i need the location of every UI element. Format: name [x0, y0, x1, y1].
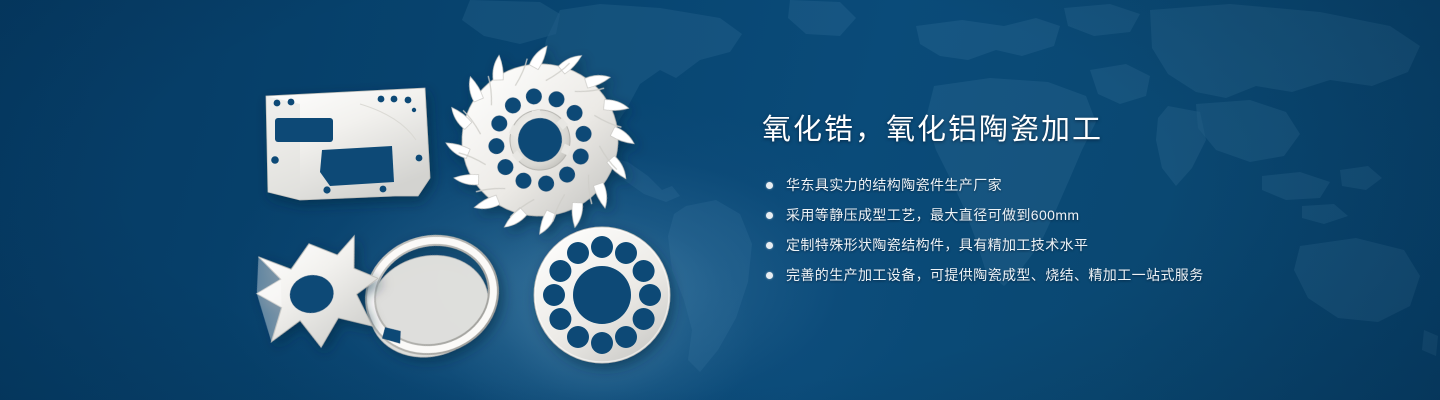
- feature-list: 华东具实力的结构陶瓷件生产厂家 采用等静压成型工艺，最大直径可做到600mm 定…: [766, 174, 1282, 286]
- feature-text: 华东具实力的结构陶瓷件生产厂家: [786, 174, 1002, 196]
- hero-banner: 氧化锆，氧化铝陶瓷加工 华东具实力的结构陶瓷件生产厂家 采用等静压成型工艺，最大…: [0, 0, 1440, 400]
- banner-copy: 氧化锆，氧化铝陶瓷加工 华东具实力的结构陶瓷件生产厂家 采用等静压成型工艺，最大…: [762, 112, 1282, 294]
- list-item: 完善的生产加工设备，可提供陶瓷成型、烧结、精加工一站式服务: [766, 264, 1282, 286]
- feature-text: 采用等静压成型工艺，最大直径可做到600mm: [786, 204, 1079, 226]
- bullet-dot-icon: [766, 242, 773, 249]
- list-item: 华东具实力的结构陶瓷件生产厂家: [766, 174, 1282, 196]
- bullet-dot-icon: [766, 212, 773, 219]
- list-item: 采用等静压成型工艺，最大直径可做到600mm: [766, 204, 1282, 226]
- feature-text: 完善的生产加工设备，可提供陶瓷成型、烧结、精加工一站式服务: [786, 264, 1204, 286]
- feature-text: 定制特殊形状陶瓷结构件，具有精加工技术水平: [786, 234, 1088, 256]
- bullet-dot-icon: [766, 182, 773, 189]
- bullet-dot-icon: [766, 272, 773, 279]
- page-title: 氧化锆，氧化铝陶瓷加工: [762, 112, 1282, 148]
- list-item: 定制特殊形状陶瓷结构件，具有精加工技术水平: [766, 234, 1282, 256]
